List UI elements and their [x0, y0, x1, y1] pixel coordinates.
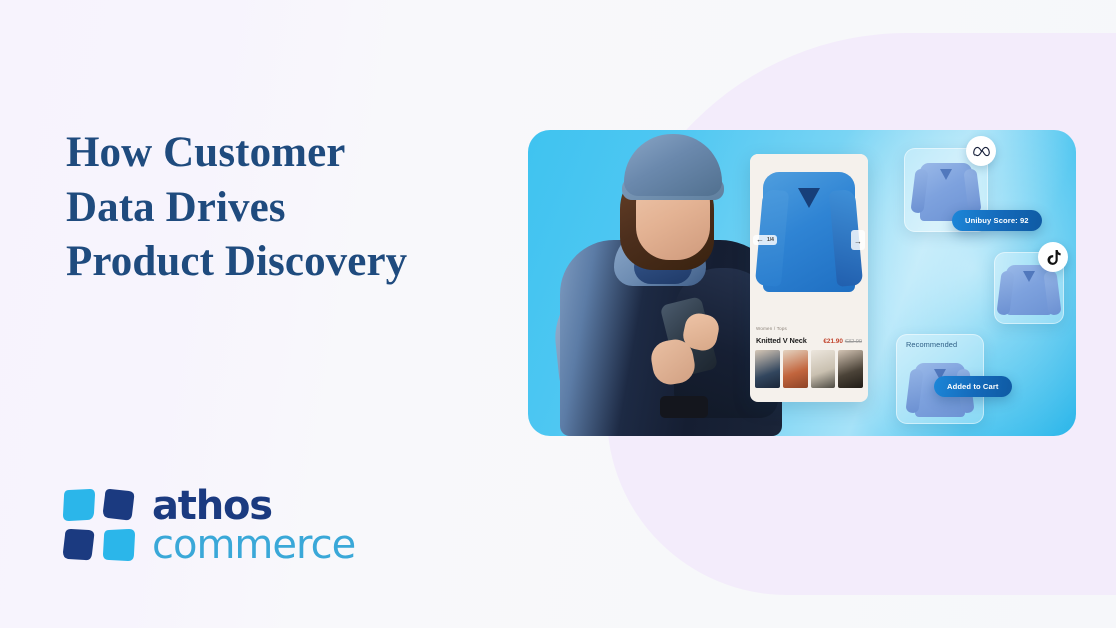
- tiktok-icon: [1038, 242, 1068, 272]
- logo-text-commerce: commerce: [152, 526, 355, 564]
- carousel-counter: 1/4: [767, 238, 774, 243]
- product-thumbnail[interactable]: [811, 350, 836, 388]
- logo-text-athos: athos: [152, 487, 355, 525]
- product-price-sale: €21.90: [823, 338, 843, 345]
- logo-tile-top-right-icon: [102, 488, 136, 522]
- product-breadcrumb: Women / Tops: [756, 326, 787, 331]
- unibuy-score-badge: Unibuy Score: 92: [952, 210, 1042, 231]
- product-price-original: €32.00: [845, 339, 862, 345]
- product-detail-card[interactable]: ← 1/4 → Women / Tops Knitted V Neck €21.…: [750, 154, 868, 402]
- mini-vneck-detail: [1023, 271, 1035, 282]
- product-title: Knitted V Neck: [756, 336, 807, 345]
- product-thumbnail-strip: [755, 350, 863, 388]
- meta-icon: [966, 136, 996, 166]
- recommended-label: Recommended: [906, 340, 957, 349]
- carousel-next-icon[interactable]: →: [854, 237, 862, 246]
- mini-vneck-detail: [940, 169, 952, 180]
- added-to-cart-badge: Added to Cart: [934, 376, 1012, 397]
- athos-commerce-logo: athos commerce: [62, 487, 355, 565]
- mini-sleeve-left: [996, 270, 1014, 315]
- hero-image-card: ← 1/4 → Women / Tops Knitted V Neck €21.…: [528, 130, 1076, 436]
- mini-sweater-image: [1006, 265, 1052, 315]
- model-beanie: [624, 134, 722, 196]
- product-vneck-detail: [798, 188, 820, 208]
- logo-wordmark: athos commerce: [152, 487, 355, 565]
- mini-sleeve-left: [910, 168, 928, 213]
- logo-mark: [62, 488, 138, 564]
- product-thumbnail[interactable]: [783, 350, 808, 388]
- meta-infinity-glyph: [973, 146, 990, 157]
- product-title-row: Knitted V Neck €21.90 €32.00: [756, 336, 862, 345]
- logo-tile-bottom-right-icon: [102, 528, 136, 562]
- mini-sleeve-right: [1043, 270, 1061, 315]
- product-thumbnail[interactable]: [755, 350, 780, 388]
- logo-tile-bottom-left-icon: [62, 528, 96, 562]
- tiktok-note-glyph: [1046, 249, 1061, 266]
- mini-sleeve-right: [963, 168, 981, 213]
- product-image-area: ← 1/4 →: [750, 154, 868, 322]
- headline-line-1: How Customer: [66, 126, 496, 181]
- carousel-prev-icon[interactable]: ←: [756, 236, 764, 244]
- model-belt: [660, 396, 708, 418]
- product-price-group: €21.90 €32.00: [823, 338, 862, 345]
- logo-tile-top-left-icon: [62, 488, 96, 522]
- headline-line-2: Data Drives: [66, 181, 496, 236]
- page-title: How Customer Data Drives Product Discove…: [66, 126, 496, 290]
- product-thumbnail[interactable]: [838, 350, 863, 388]
- carousel-next-group[interactable]: →: [851, 230, 865, 250]
- product-carousel-controls: ← 1/4 →: [750, 232, 868, 248]
- mini-sleeve-left: [905, 368, 923, 413]
- carousel-prev-group[interactable]: ← 1/4: [753, 235, 777, 245]
- headline-line-3: Product Discovery: [66, 235, 496, 290]
